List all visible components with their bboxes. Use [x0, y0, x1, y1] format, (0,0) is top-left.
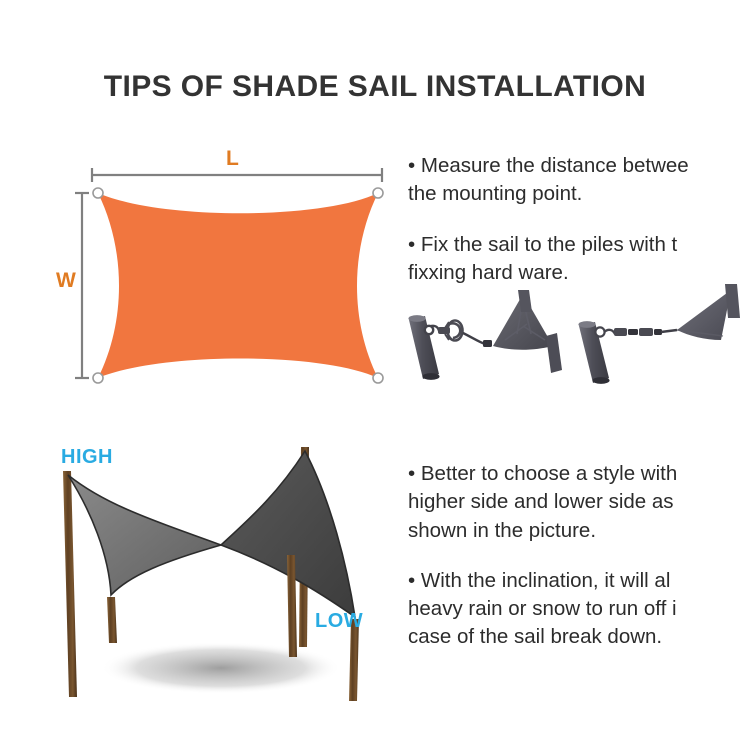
- tension-cable: [463, 333, 485, 344]
- tip-item: • With the inclination, it will al heavy…: [408, 567, 677, 652]
- tip-line: • Fix the sail to the piles with t: [408, 231, 689, 259]
- shade-sail-light: [68, 475, 221, 595]
- hardware-illustrations: [405, 278, 750, 388]
- ground-shadow: [101, 642, 341, 694]
- tip-line: higher side and lower side as: [408, 488, 677, 516]
- rectangular-sail-diagram: L W: [30, 130, 400, 405]
- tip-line: case of the sail break down.: [408, 623, 677, 651]
- height-label-high: HIGH: [61, 447, 113, 467]
- shackle-hardware: [425, 326, 439, 334]
- tip-line: the mounting point.: [408, 180, 689, 208]
- tensioner-hardware: [595, 327, 662, 336]
- hardware-figure-post-turnbuckle-sail: [405, 278, 580, 388]
- bottom-tips-list: • Better to choose a style with higher s…: [408, 460, 677, 652]
- dimension-label-length: L: [226, 148, 239, 169]
- tension-cable: [661, 330, 677, 332]
- length-dimension-line: [92, 168, 382, 182]
- tip-item: • Better to choose a style with higher s…: [408, 460, 677, 545]
- sail-corner: [677, 290, 731, 340]
- top-section: L W • Measure the distance betwee the mo…: [0, 130, 750, 410]
- tip-line: shown in the picture.: [408, 517, 677, 545]
- infographic-page: TIPS OF SHADE SAIL INSTALLATION: [0, 0, 750, 750]
- hardware-figure-post-tensioner-sail: [565, 278, 750, 388]
- cable-clamp: [483, 340, 492, 347]
- cylindrical-post: [408, 315, 439, 380]
- turnbuckle: [438, 321, 463, 341]
- tip-line: • With the inclination, it will al: [408, 567, 677, 595]
- tip-item: • Measure the distance betwee the mounti…: [408, 152, 689, 209]
- support-post-front-left: [107, 597, 117, 643]
- sail-body: [98, 193, 378, 378]
- tip-line: • Measure the distance betwee: [408, 152, 689, 180]
- inclined-canopy-diagram: HIGH LOW: [25, 425, 415, 715]
- support-post-back-left: [63, 471, 77, 697]
- dimension-label-width: W: [56, 270, 76, 291]
- top-tips-list: • Measure the distance betwee the mounti…: [408, 152, 689, 287]
- bottom-section: HIGH LOW • Better to choose a style with…: [0, 425, 750, 725]
- tip-line: • Better to choose a style with: [408, 460, 677, 488]
- height-label-low: LOW: [315, 611, 363, 631]
- page-title: TIPS OF SHADE SAIL INSTALLATION: [0, 70, 750, 104]
- tip-line: heavy rain or snow to run off i: [408, 595, 677, 623]
- sail-mounting-post: [725, 284, 740, 318]
- width-dimension-line: [75, 193, 89, 378]
